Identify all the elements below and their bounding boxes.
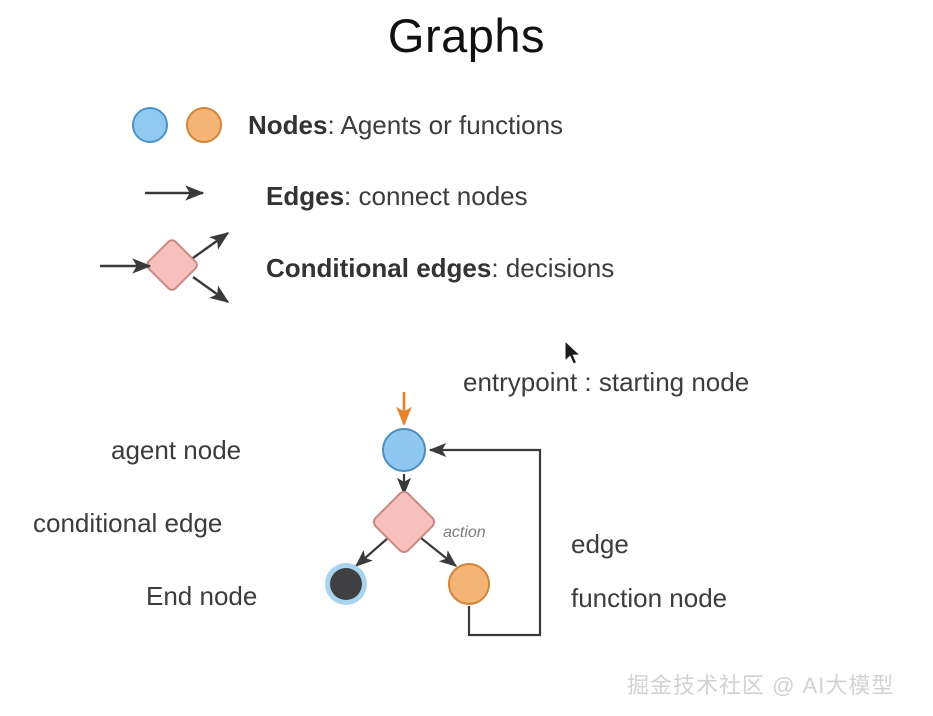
legend-row-edges: Edges: connect nodes [266, 181, 528, 212]
legend-desc-nodes: Agents or functions [340, 110, 563, 140]
label-conditional-edge: conditional edge [33, 508, 222, 539]
slide-canvas: Graphs Nodes: Agents or functions Edges:… [0, 0, 933, 716]
diagram-node-agent[interactable] [382, 428, 426, 472]
legend-term-edges: Edges [266, 181, 344, 211]
page-title: Graphs [0, 8, 933, 63]
legend-sep-nodes: : [327, 110, 340, 140]
edge-decision-to-end [356, 538, 388, 566]
label-agent-node: agent node [111, 435, 241, 466]
label-function-node: function node [571, 583, 727, 614]
diagram-node-decision[interactable] [370, 488, 438, 556]
edge-decision-to-function [421, 538, 456, 566]
legend-term-nodes: Nodes [248, 110, 327, 140]
label-action-edge: action [443, 524, 486, 542]
legend-orange-node-icon [186, 107, 222, 143]
legend-row-nodes: Nodes: Agents or functions [248, 110, 563, 141]
legend-sep-conditional: : [491, 253, 505, 283]
watermark-text: 掘金技术社区 @ AI大模型 [627, 668, 894, 700]
legend-term-conditional: Conditional edges [266, 253, 491, 283]
diagram-node-function[interactable] [448, 563, 490, 605]
legend-desc-edges: connect nodes [358, 181, 527, 211]
legend-desc-conditional: decisions [506, 253, 614, 283]
mouse-cursor-icon [563, 340, 585, 370]
legend-sep-edges: : [344, 181, 358, 211]
label-edge: edge [571, 529, 629, 560]
edge-function-loop-to-agent [430, 450, 540, 635]
label-end-node: End node [146, 581, 257, 612]
label-entrypoint: entrypoint : starting node [463, 367, 749, 398]
legend-diamond-icon [144, 237, 201, 294]
diagram-node-end-core [330, 568, 362, 600]
legend-blue-node-icon [132, 107, 168, 143]
diagram-edges-layer [0, 0, 933, 716]
legend-row-conditional-edges: Conditional edges: decisions [266, 253, 614, 284]
